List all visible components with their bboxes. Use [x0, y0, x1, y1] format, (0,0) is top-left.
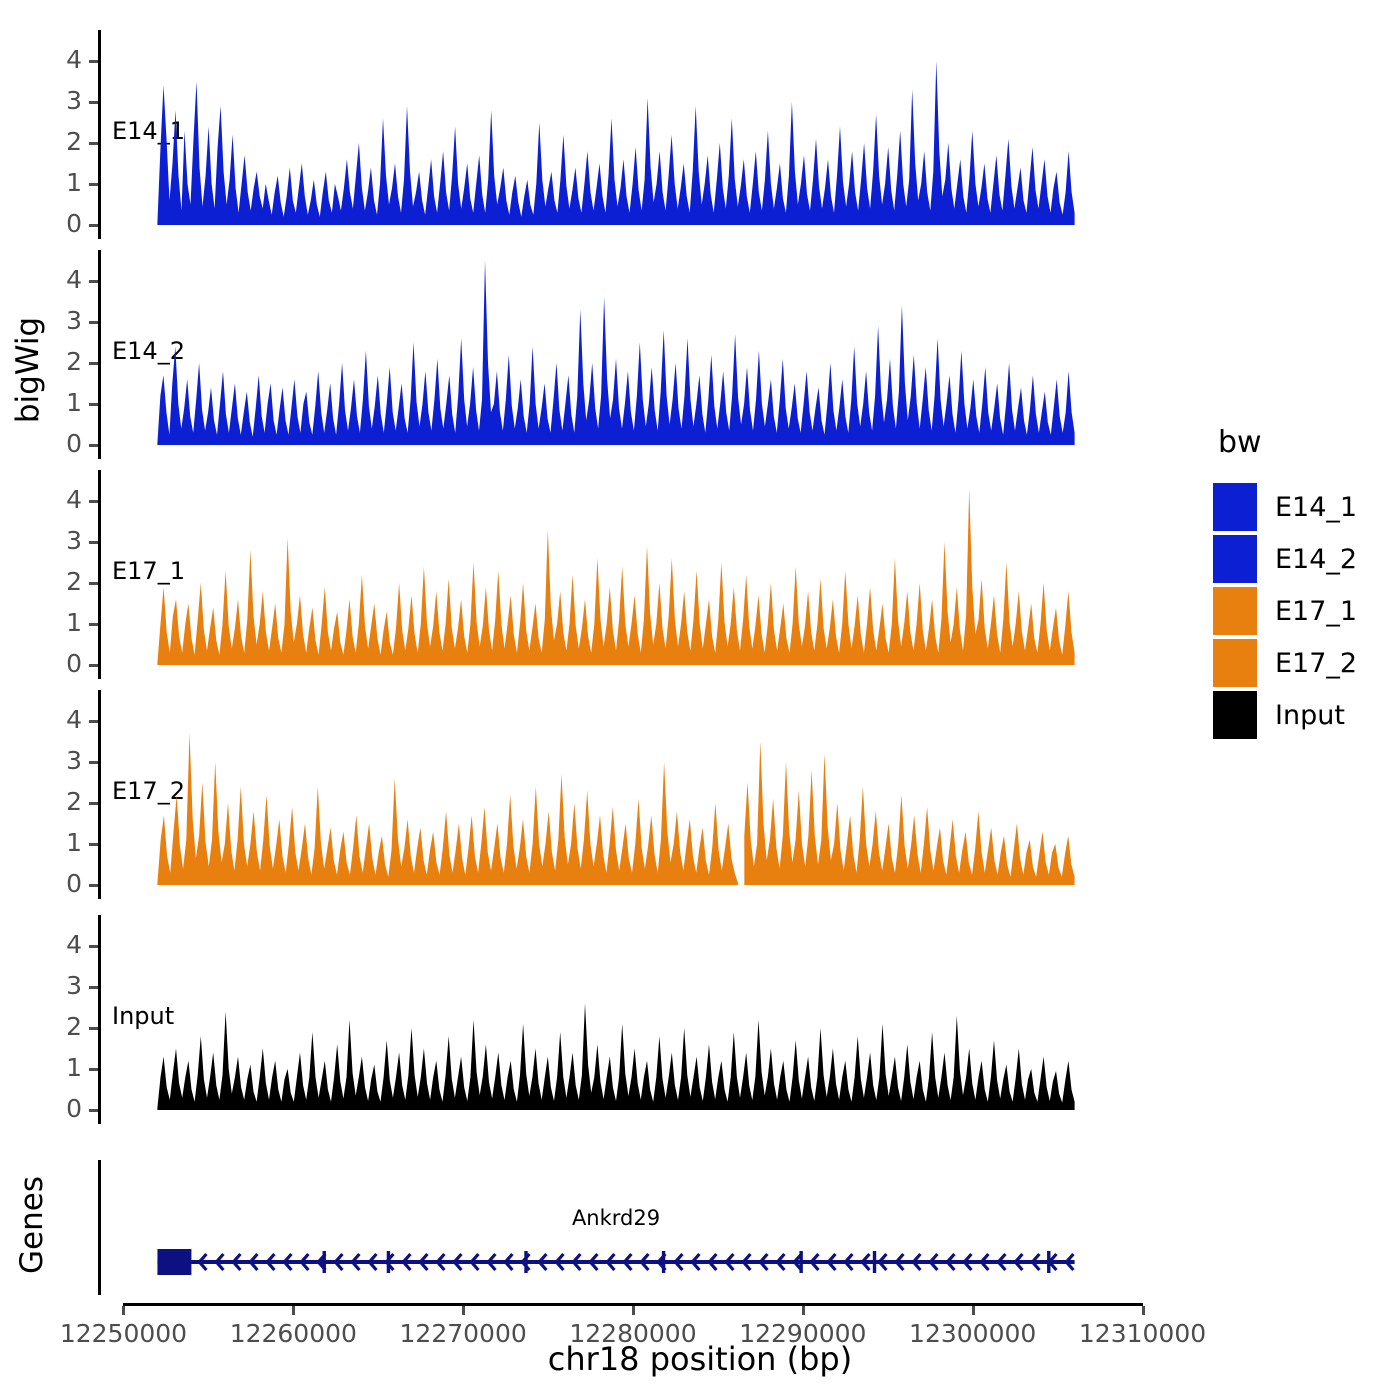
x-tick	[122, 1306, 125, 1315]
x-tick	[802, 1306, 805, 1315]
y-tick	[89, 1109, 98, 1112]
y-tick	[89, 1068, 98, 1071]
legend-swatch-E14_1	[1213, 483, 1257, 531]
x-tick	[972, 1306, 975, 1315]
legend-swatch-E14_2	[1213, 535, 1257, 583]
legend-label-Input: Input	[1275, 700, 1345, 731]
y-tick	[89, 986, 98, 989]
legend-swatch-E17_1	[1213, 587, 1257, 635]
y-tick-label: 1	[46, 1055, 82, 1080]
y-tick-label: 0	[46, 1096, 82, 1121]
track-area-Input	[0, 0, 1400, 1400]
y-tick	[89, 945, 98, 948]
y-tick-label: 2	[46, 1014, 82, 1039]
x-tick	[462, 1306, 465, 1315]
genes-axis-line	[98, 1160, 101, 1295]
x-tick	[1142, 1306, 1145, 1315]
legend-swatch-Input	[1213, 691, 1257, 739]
x-axis-title: chr18 position (bp)	[0, 1340, 1400, 1378]
y-tick-label: 4	[46, 932, 82, 957]
gene-name-label: Ankrd29	[526, 1206, 706, 1230]
legend-label-E17_2: E17_2	[1275, 648, 1357, 679]
legend-title: bw	[1218, 425, 1262, 460]
y-tick	[89, 1027, 98, 1030]
y-tick-label: 3	[46, 973, 82, 998]
legend-swatch-E17_2	[1213, 639, 1257, 687]
legend-label-E17_1: E17_1	[1275, 596, 1357, 627]
legend-label-E14_2: E14_2	[1275, 544, 1357, 575]
legend-label-E14_1: E14_1	[1275, 492, 1357, 523]
x-tick	[292, 1306, 295, 1315]
x-tick	[632, 1306, 635, 1315]
y-axis-line	[98, 915, 101, 1124]
track-label-Input: Input	[112, 1002, 174, 1030]
track-panel-Input: 01234Input	[0, 0, 1400, 1400]
